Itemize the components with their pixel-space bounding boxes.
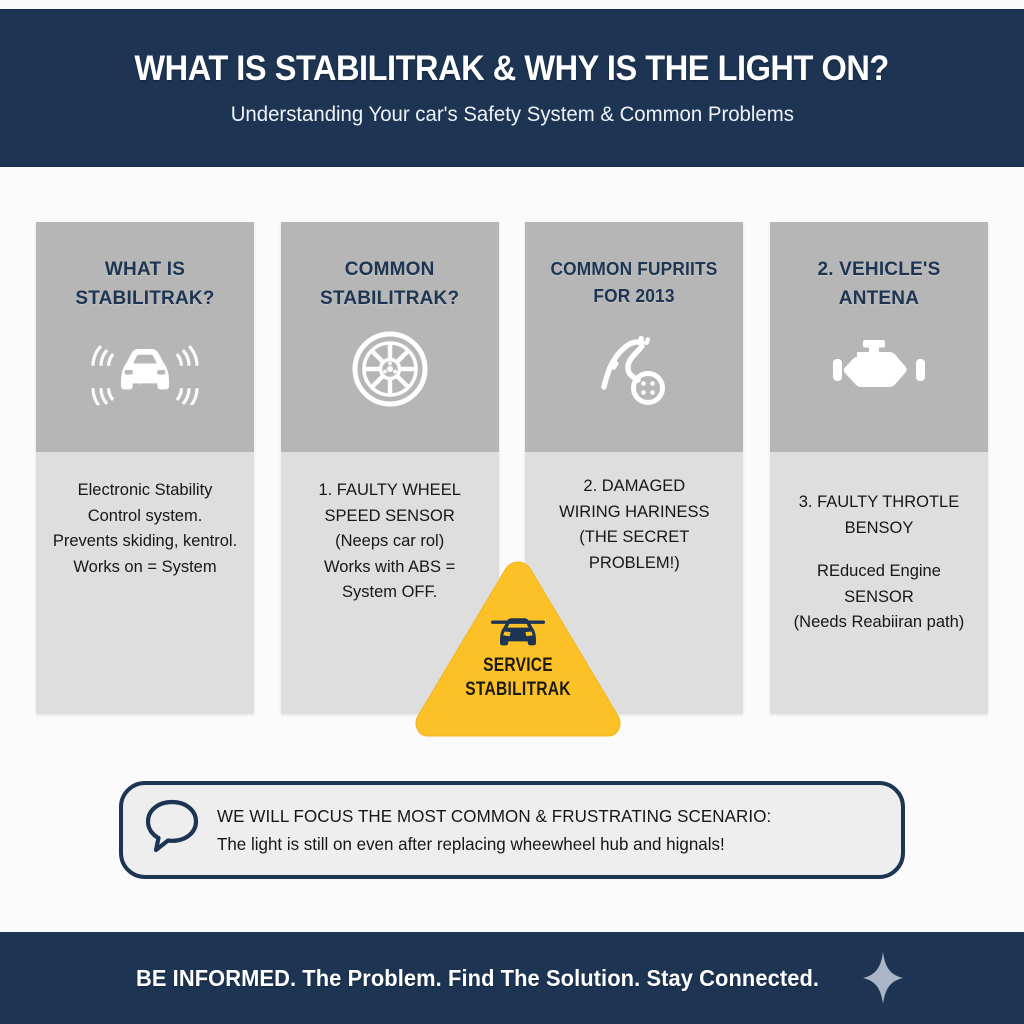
card-header-area: 2. VEHICLE'S ANTENA bbox=[770, 222, 988, 452]
card-body-text-primary: 3. FAULTY THROTLE BENSOY bbox=[780, 490, 978, 541]
card-body-text-secondary: REduced Engine SENSOR (Needs Reabiiran p… bbox=[780, 559, 978, 636]
card-body: 3. FAULTY THROTLE BENSOY REduced Engine … bbox=[770, 452, 988, 714]
engine-block-icon bbox=[770, 326, 988, 412]
card-title: COMMON FUPRIITS FOR 2013 bbox=[530, 256, 739, 311]
callout-text-group: WE WILL FOCUS THE MOST COMMON & FRUSTRAT… bbox=[217, 806, 879, 855]
warning-label: SERVICE STABILITRAK bbox=[431, 654, 605, 701]
card-header-area: WHAT IS STABILITRAK? bbox=[36, 222, 254, 452]
footer-tagline: BE INFORMED. The Problem. Find The Solut… bbox=[136, 965, 819, 992]
card-title: WHAT IS STABILITRAK? bbox=[36, 256, 254, 314]
speech-bubble-icon bbox=[141, 794, 203, 861]
card-title: COMMON STABILITRAK? bbox=[281, 256, 499, 314]
card-body: Electronic Stability Control system. Pre… bbox=[36, 452, 254, 714]
footer-banner: BE INFORMED. The Problem. Find The Solut… bbox=[0, 932, 1024, 1024]
card-header-area: COMMON STABILITRAK? bbox=[281, 222, 499, 452]
wheel-rim-icon bbox=[281, 326, 499, 412]
header-banner: WHAT IS STABILITRAK & WHY IS THE LIGHT O… bbox=[0, 9, 1024, 167]
callout-box[interactable]: WE WILL FOCUS THE MOST COMMON & FRUSTRAT… bbox=[119, 781, 905, 879]
service-stabilitrak-warning-badge[interactable]: SERVICE STABILITRAK bbox=[412, 558, 624, 740]
card-vehicles-antena[interactable]: 2. VEHICLE'S ANTENA 3. FAULTY THROTLE BE… bbox=[770, 222, 988, 714]
page-title: WHAT IS STABILITRAK & WHY IS THE LIGHT O… bbox=[135, 49, 889, 89]
callout-heading: WE WILL FOCUS THE MOST COMMON & FRUSTRAT… bbox=[217, 806, 859, 827]
callout-detail: The light is still on even after replaci… bbox=[217, 834, 859, 855]
car-stability-waves-icon bbox=[36, 326, 254, 412]
infographic-page: WHAT IS STABILITRAK & WHY IS THE LIGHT O… bbox=[0, 0, 1024, 1024]
card-what-is-stabilitrak[interactable]: WHAT IS STABILITRAK? bbox=[36, 222, 254, 714]
car-front-icon bbox=[412, 610, 624, 648]
page-subtitle: Understanding Your car's Safety System &… bbox=[230, 103, 793, 127]
card-title: 2. VEHICLE'S ANTENA bbox=[770, 256, 988, 314]
wiring-harness-connector-icon bbox=[525, 323, 743, 409]
card-header-area: COMMON FUPRIITS FOR 2013 bbox=[525, 222, 743, 452]
card-body-text: Electronic Stability Control system. Pre… bbox=[46, 478, 244, 580]
diamond-sparkle-icon bbox=[860, 950, 906, 1006]
